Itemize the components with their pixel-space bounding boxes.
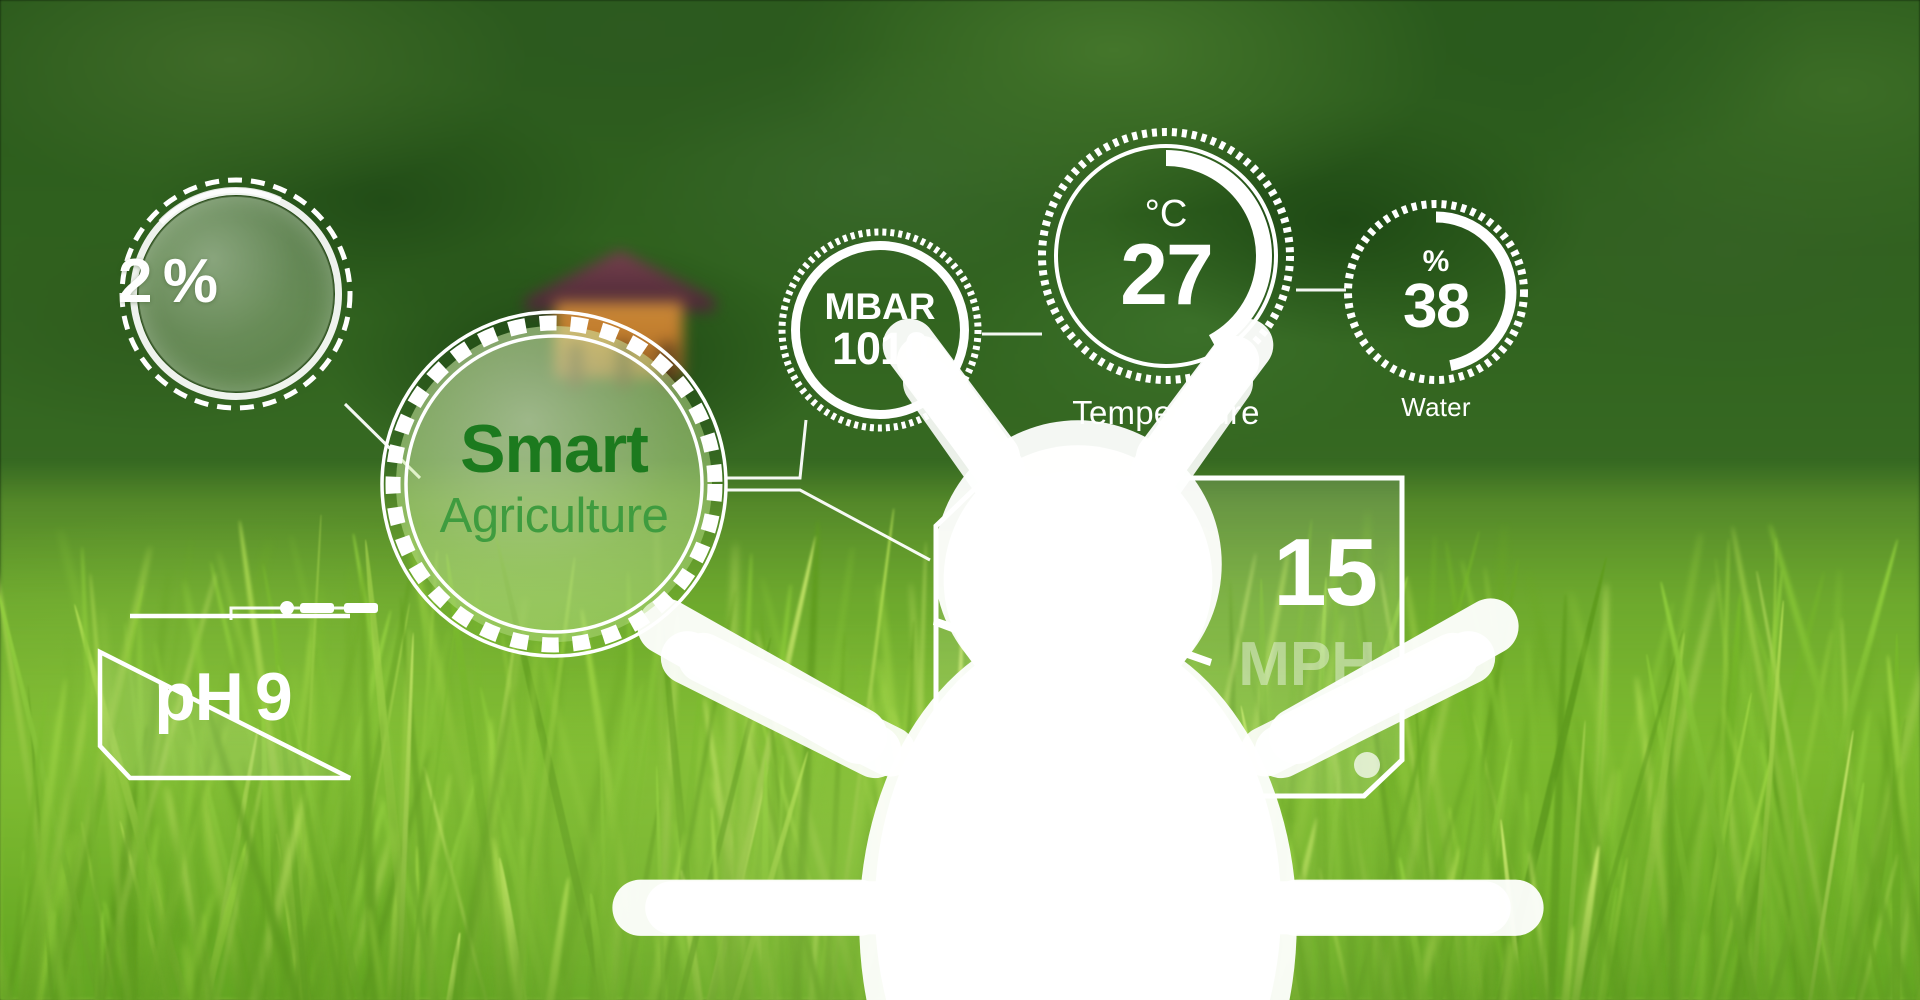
turbine-mast bbox=[1135, 636, 1142, 800]
water-readout: % 38 bbox=[1344, 200, 1528, 384]
pest-value: 2 % bbox=[118, 246, 354, 317]
wind-readout: 15 MPH bbox=[1238, 530, 1376, 696]
hub-title: Smart bbox=[460, 416, 648, 483]
water-label: Water bbox=[1401, 392, 1470, 423]
wind-panel[interactable]: 15 MPH bbox=[932, 474, 1402, 800]
temperature-gauge[interactable]: °C 27 Temperature bbox=[1038, 128, 1294, 384]
smart-agriculture-hub[interactable]: Smart Agriculture bbox=[378, 308, 730, 660]
pressure-gauge[interactable]: MBAR 1010 bbox=[778, 228, 982, 432]
wind-value: 15 bbox=[1238, 530, 1376, 616]
pressure-readout: MBAR 1010 bbox=[778, 228, 982, 432]
pest-gauge[interactable]: 2 % bbox=[118, 176, 354, 412]
screenshot-stage: 2 % bbox=[0, 0, 1920, 1000]
ph-panel[interactable]: pH 9 bbox=[96, 612, 350, 782]
water-value: 38 bbox=[1403, 277, 1469, 338]
ph-label: pH bbox=[154, 658, 243, 736]
pressure-value: 1010 bbox=[832, 325, 928, 372]
wind-unit: MPH bbox=[1238, 634, 1376, 696]
hud-overlay: 2 % bbox=[0, 0, 1920, 1000]
ph-readout: pH 9 bbox=[96, 612, 350, 782]
wind-panel-corner-dot bbox=[1354, 752, 1380, 778]
water-gauge[interactable]: % 38 Water bbox=[1344, 200, 1528, 384]
hub-text-block: Smart Agriculture bbox=[378, 308, 730, 660]
temperature-value: 27 bbox=[1120, 235, 1212, 317]
pressure-unit: MBAR bbox=[825, 288, 936, 326]
hub-subtitle: Agriculture bbox=[440, 487, 669, 546]
temperature-label: Temperature bbox=[1072, 394, 1259, 432]
temperature-readout: °C 27 bbox=[1038, 128, 1294, 384]
ph-value: 9 bbox=[255, 658, 292, 736]
